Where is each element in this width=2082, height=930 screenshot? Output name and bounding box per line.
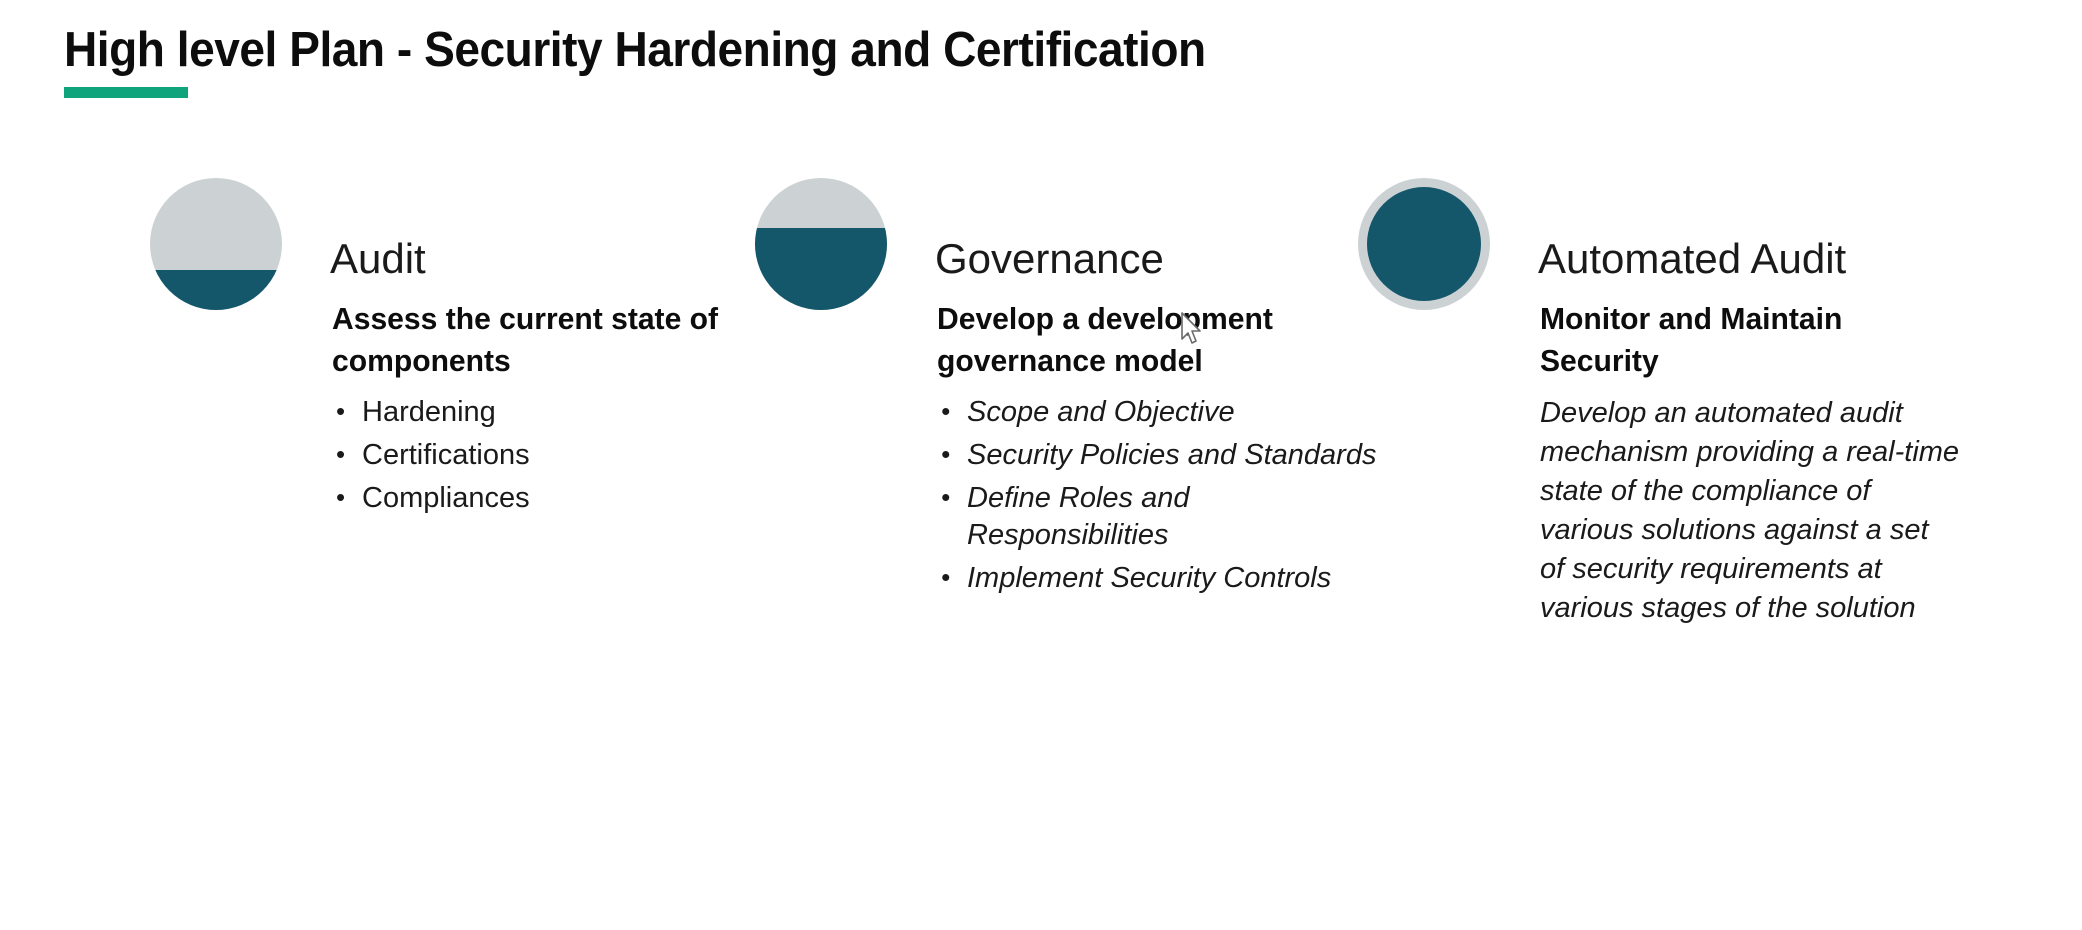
gauge-icon-audit — [150, 178, 282, 310]
bullet-list-audit: Hardening Certifications Compliances — [332, 394, 772, 517]
list-item: Implement Security Controls — [937, 560, 1377, 597]
column-title-audit: Audit — [330, 235, 426, 283]
list-item: Security Policies and Standards — [937, 437, 1377, 474]
gauge-icon-automated-audit — [1358, 178, 1490, 310]
column-body-governance: Develop a development governance model S… — [937, 298, 1377, 603]
column-title-governance: Governance — [935, 235, 1164, 283]
column-paragraph-automated-audit: Develop an automated audit mechanism pro… — [1540, 394, 1960, 628]
column-body-automated-audit: Monitor and Maintain Security Develop an… — [1540, 298, 1980, 628]
column-subhead-governance: Develop a development governance model — [937, 298, 1364, 382]
title-accent-bar — [64, 87, 188, 98]
title-block: High level Plan - Security Hardening and… — [64, 22, 1279, 98]
page-title: High level Plan - Security Hardening and… — [64, 22, 1206, 78]
column-subhead-audit: Assess the current state of components — [332, 298, 759, 382]
list-item: Compliances — [332, 480, 772, 517]
gauge-fill — [1367, 187, 1481, 301]
list-item: Define Roles and Responsibilities — [937, 480, 1377, 554]
list-item: Hardening — [332, 394, 772, 431]
column-subhead-automated-audit: Monitor and Maintain Security — [1540, 298, 1967, 382]
list-item: Certifications — [332, 437, 772, 474]
list-item: Scope and Objective — [937, 394, 1377, 431]
plan-column-audit: Audit Assess the current state of compon… — [150, 178, 750, 310]
plan-column-automated-audit: Automated Audit Monitor and Maintain Sec… — [1358, 178, 1978, 310]
bullet-list-governance: Scope and Objective Security Policies an… — [937, 394, 1377, 597]
plan-column-governance: Governance Develop a development governa… — [755, 178, 1355, 310]
column-header-automated-audit: Automated Audit — [1358, 178, 1978, 310]
column-title-automated-audit: Automated Audit — [1538, 235, 1846, 283]
column-body-audit: Assess the current state of components H… — [332, 298, 772, 523]
gauge-fill — [150, 270, 282, 310]
column-header-audit: Audit — [150, 178, 750, 310]
gauge-icon-governance — [755, 178, 887, 310]
plan-columns: Audit Assess the current state of compon… — [0, 178, 2082, 878]
gauge-fill — [755, 228, 887, 310]
column-header-governance: Governance — [755, 178, 1355, 310]
